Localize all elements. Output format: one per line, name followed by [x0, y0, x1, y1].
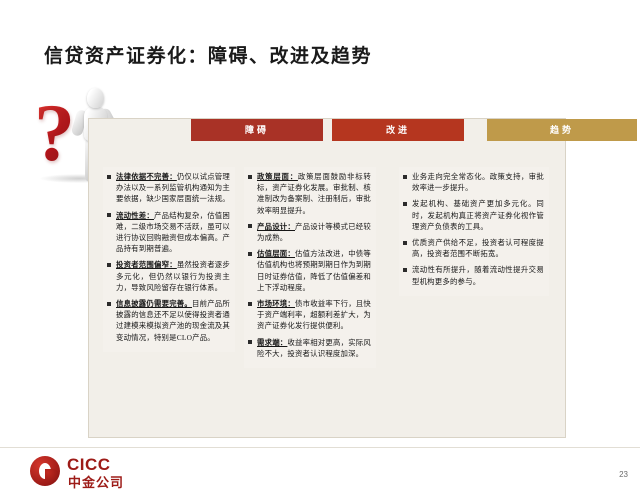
- bullet-item: 流动性有所提升，随着流动性提升交易型机构更多的参与。: [403, 264, 544, 286]
- question-mark-icon: ?: [34, 92, 75, 174]
- bullet-lead: 信息披露仍需要完善。: [116, 299, 192, 308]
- bullet-lead: 需求端：: [257, 338, 287, 347]
- column-improvements: 政策层面：政策层面鼓励非标转标，资产证券化发展。审批制、核准制改为备案制、注册制…: [244, 167, 376, 368]
- bullet-item: 估值层面：估值方法改进，中债等估值机构也将预期到期日作为到期日时证券估值，降低了…: [248, 248, 371, 293]
- column-body-trends: 业务走向完全常态化。政策支持，审批效率进一步提升。发起机构、基础资产更加多元化。…: [399, 167, 549, 296]
- bullet-lead: 产品设计：: [257, 222, 295, 231]
- bullet-item: 流动性差：产品结构复杂，估值困难，二级市场交易不活跃，虽可以进行协议回购融资但成…: [107, 210, 230, 255]
- bullet-text: 优质资产供给不足，投资者认可程度提高，投资者范围不断拓宽。: [412, 238, 544, 258]
- figure-head: [87, 88, 104, 108]
- page-title: 信贷资产证券化：障碍、改进及趋势: [44, 44, 372, 70]
- cicc-logo-hanzi: 中金公司: [68, 472, 124, 491]
- bullet-item: 法律依据不完善：仍仅以试点管理办法以及一系列监管机构通知为主要依据，缺少国家层面…: [107, 171, 230, 205]
- bullet-item: 政策层面：政策层面鼓励非标转标，资产证券化发展。审批制、核准制改为备案制、注册制…: [248, 171, 371, 216]
- bullet-text: 业务走向完全常态化。政策支持，审批效率进一步提升。: [412, 172, 544, 192]
- bullet-lead: 法律依据不完善：: [116, 172, 177, 181]
- bullet-item: 优质资产供给不足，投资者认可程度提高，投资者范围不断拓宽。: [403, 237, 544, 259]
- content-panel: 障碍 改进 趋势 法律依据不完善：仍仅以试点管理办法以及一系列监管机构通知为主要…: [88, 118, 566, 438]
- bullet-lead: 政策层面：: [257, 172, 298, 181]
- bullet-lead: 估值层面：: [257, 249, 295, 258]
- bullet-text: 发起机构、基础资产更加多元化。同时，发起机构真正将资产证券化视作管理资产负债表的…: [412, 199, 544, 230]
- column-trends: 业务走向完全常态化。政策支持，审批效率进一步提升。发起机构、基础资产更加多元化。…: [399, 167, 549, 296]
- bullet-lead: 市场环境：: [257, 299, 295, 308]
- bullet-item: 信息披露仍需要完善。目前产品所披露的信息还不足以使得投资者通过建模来模拟资产池的…: [107, 298, 230, 343]
- bullet-item: 需求端：收益率相对更高，实际风险不大，投资者认识程度加深。: [248, 337, 371, 359]
- column-body-improvements: 政策层面：政策层面鼓励非标转标，资产证券化发展。审批制、核准制改为备案制、注册制…: [244, 167, 376, 368]
- column-header-improvements: 改进: [332, 119, 464, 141]
- footer-divider: [0, 447, 640, 448]
- bullet-list-trends: 业务走向完全常态化。政策支持，审批效率进一步提升。发起机构、基础资产更加多元化。…: [403, 171, 544, 287]
- bullet-item: 发起机构、基础资产更加多元化。同时，发起机构真正将资产证券化视作管理资产负债表的…: [403, 198, 544, 232]
- bullet-list-obstacles: 法律依据不完善：仍仅以试点管理办法以及一系列监管机构通知为主要依据，缺少国家层面…: [107, 171, 230, 343]
- bullet-list-improvements: 政策层面：政策层面鼓励非标转标，资产证券化发展。审批制、核准制改为备案制、注册制…: [248, 171, 371, 359]
- bullet-lead: 流动性差：: [116, 211, 154, 220]
- bullet-lead: 投资者范围偏窄：: [116, 260, 177, 269]
- column-header-trends: 趋势: [487, 119, 637, 141]
- column-header-obstacles: 障碍: [191, 119, 323, 141]
- page-number: 23: [619, 470, 628, 479]
- bullet-item: 投资者范围偏窄：虽然投资者逐步多元化，但仍然以银行为投资主力，导致风险留存在银行…: [107, 259, 230, 293]
- column-obstacles: 法律依据不完善：仍仅以试点管理办法以及一系列监管机构通知为主要依据，缺少国家层面…: [103, 167, 235, 352]
- cicc-logo: CICC 中金公司: [30, 455, 190, 489]
- cicc-mark-icon: [30, 456, 60, 486]
- bullet-item: 产品设计：产品设计等模式已经较为成熟。: [248, 221, 371, 243]
- column-body-obstacles: 法律依据不完善：仍仅以试点管理办法以及一系列监管机构通知为主要依据，缺少国家层面…: [103, 167, 235, 352]
- bullet-text: 流动性有所提升，随着流动性提升交易型机构更多的参与。: [412, 265, 544, 285]
- bullet-item: 市场环境：债市收益率下行，且快于资产端利率，超额利差扩大，为资产证券化发行提供便…: [248, 298, 371, 332]
- bullet-item: 业务走向完全常态化。政策支持，审批效率进一步提升。: [403, 171, 544, 193]
